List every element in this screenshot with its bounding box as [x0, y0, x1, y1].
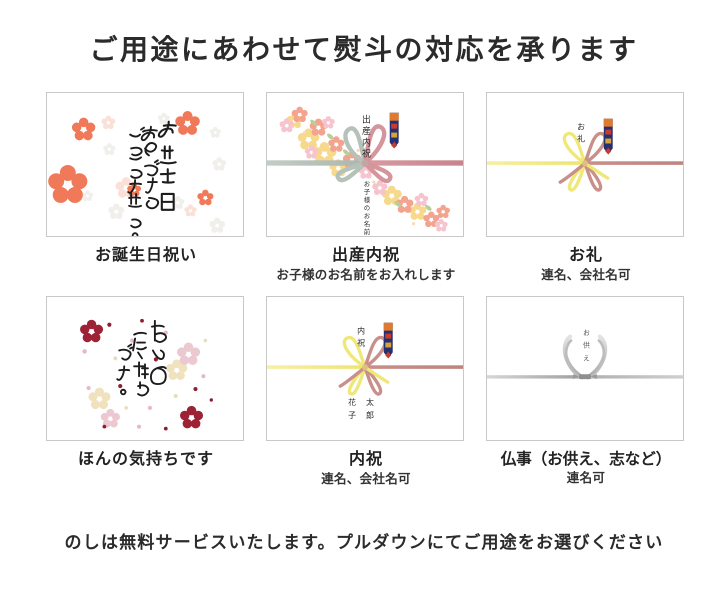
- noshi-uchiiwai-art: 内祝 太郎 花子: [267, 297, 463, 441]
- noshi-name-1: 太郎: [365, 397, 374, 424]
- noshi-name-text: お子様のお名前: [362, 180, 369, 236]
- noshi-title-text: お礼: [576, 123, 585, 147]
- noshi-preview-orei[interactable]: お礼: [486, 92, 684, 237]
- noshi-row-2: ほんの気持ちです: [0, 296, 728, 496]
- noshi-row-1: お誕生日祝い: [0, 92, 728, 296]
- birthday-blossom-art: [47, 93, 243, 237]
- noshi-preview-butsuji[interactable]: お供え: [486, 296, 684, 441]
- noshi-option-uchiiwai[interactable]: 内祝 太郎 花子 内祝 連名、会社名可: [266, 296, 466, 487]
- noshi-floral-birth-art: 出産内祝 お子様のお名前: [267, 93, 463, 237]
- noshi-title-text: 内祝: [356, 326, 365, 351]
- subcaption-butsuji: 連名可: [486, 471, 686, 486]
- noshi-preview-uchiiwai[interactable]: 内祝 太郎 花子: [266, 296, 464, 441]
- noshi-orei-art: お礼: [487, 93, 683, 237]
- caption-birthday: お誕生日祝い: [46, 246, 246, 266]
- noshi-title-text: 出産内祝: [361, 114, 371, 161]
- noshi-option-butsuji[interactable]: お供え 仏事（お供え、志など） 連名可: [486, 296, 686, 486]
- page-title: ご用途にあわせて熨斗の対応を承ります: [0, 28, 728, 68]
- plum-blossom-art: [47, 297, 243, 441]
- noshi-option-orei[interactable]: お礼 お礼 連名、会社名可: [486, 92, 686, 283]
- subcaption-uchiiwai: 連名、会社名可: [266, 472, 466, 487]
- noshi-option-honno-kimochi[interactable]: ほんの気持ちです: [46, 296, 246, 470]
- noshi-butsuji-art: お供え: [487, 297, 683, 441]
- caption-uchiiwai: 内祝: [266, 450, 466, 470]
- caption-shussan-uchiiwai: 出産内祝: [266, 246, 466, 266]
- noshi-preview-honno-kimochi[interactable]: [46, 296, 244, 441]
- caption-orei: お礼: [486, 246, 686, 266]
- noshi-preview-shussan-uchiiwai[interactable]: 出産内祝 お子様のお名前: [266, 92, 464, 237]
- noshi-title-text: お供え: [581, 329, 589, 368]
- noshi-option-birthday[interactable]: お誕生日祝い: [46, 92, 246, 266]
- caption-butsuji: 仏事（お供え、志など）: [486, 450, 686, 469]
- subcaption-orei: 連名、会社名可: [486, 268, 686, 283]
- caption-honno-kimochi: ほんの気持ちです: [46, 450, 246, 470]
- noshi-options-page: ご用途にあわせて熨斗の対応を承ります: [0, 0, 728, 607]
- noshi-option-shussan-uchiiwai[interactable]: 出産内祝 お子様のお名前 出産内祝 お子様のお名前をお入れします: [266, 92, 466, 283]
- subcaption-shussan-uchiiwai: お子様のお名前をお入れします: [266, 268, 466, 283]
- footer-note: のしは無料サービスいたします。プルダウンにてご用途をお選びください: [0, 528, 728, 553]
- noshi-card-grid: お誕生日祝い: [0, 92, 728, 496]
- noshi-name-2: 花子: [348, 397, 357, 424]
- noshi-preview-birthday[interactable]: [46, 92, 244, 237]
